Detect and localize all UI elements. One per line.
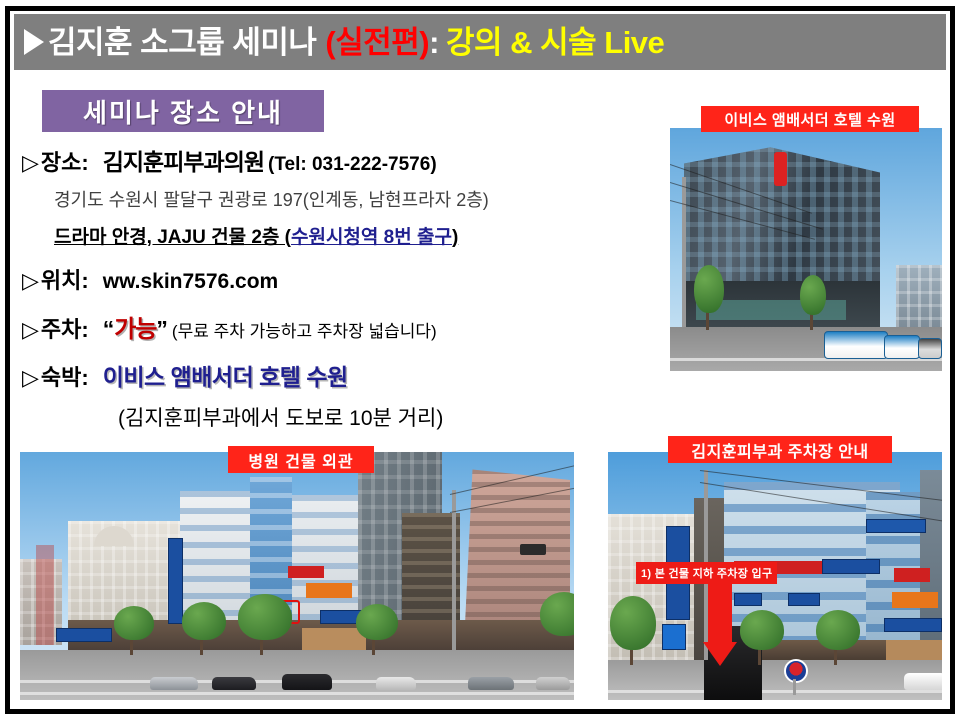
parking-arrow-stem xyxy=(708,584,732,646)
parking-arrow-head xyxy=(703,642,737,666)
title-yellow: 강의 & 시술 Live xyxy=(446,25,664,60)
info-row-lodging: ▷ 숙박: 이비스 앰배서더 호텔 수원 xyxy=(22,358,632,392)
lodging-value: 이비스 앰배서더 호텔 수원 xyxy=(103,358,348,392)
hotel-photo xyxy=(670,128,942,371)
parking-photo: 1) 본 건물 지하 주차장 입구 xyxy=(608,452,942,700)
landmark-close-paren: ) xyxy=(452,227,458,248)
info-row-place: ▷ 장소: 김지훈피부과의원 (Tel: 031-222-7576) xyxy=(22,143,632,177)
landmark-subway-exit: 수원시청역 8번 출구 xyxy=(291,227,452,248)
site-label: 위치: xyxy=(41,263,89,295)
exterior-photo-caption: 병원 건물 외관 xyxy=(228,446,374,473)
landmark-text: 드라마 안경, JAJU 건물 2층 ( xyxy=(54,227,291,248)
slide-title: 김지훈 소그룹 세미나(실전편):강의 & 시술 Live xyxy=(48,27,664,58)
parking-photo-caption: 김지훈피부과 주차장 안내 xyxy=(668,436,892,463)
lodging-label: 숙박: xyxy=(41,360,89,392)
bullet-triangle-icon: ▷ xyxy=(22,268,39,294)
slide-title-bar: 김지훈 소그룹 세미나(실전편):강의 & 시술 Live xyxy=(14,14,946,70)
parking-note: (무료 주차 가능하고 주차장 넓습니다) xyxy=(172,317,437,342)
slide: 김지훈 소그룹 세미나(실전편):강의 & 시술 Live 세미나 장소 안내 … xyxy=(0,0,960,720)
title-colon: : xyxy=(429,25,439,60)
lodging-note: (김지훈피부과에서 도보로 10분 거리) xyxy=(118,402,632,432)
bullet-triangle-icon: ▷ xyxy=(22,365,39,391)
section-banner: 세미나 장소 안내 xyxy=(42,90,324,132)
venue-info-block: ▷ 장소: 김지훈피부과의원 (Tel: 031-222-7576) 경기도 수… xyxy=(22,143,632,432)
place-name: 김지훈피부과의원 xyxy=(103,143,264,177)
title-red: (실전편) xyxy=(325,25,429,60)
parking-label: 주차: xyxy=(41,312,89,344)
title-main: 김지훈 소그룹 세미나 xyxy=(48,25,316,60)
parking-value: 가능 xyxy=(114,309,156,344)
parking-quote-open: “ xyxy=(103,316,115,343)
exterior-photo xyxy=(20,452,574,700)
place-tel: (Tel: 031-222-7576) xyxy=(268,154,437,176)
place-address: 경기도 수원시 팔달구 권광로 197(인계동, 남현프라자 2층) xyxy=(54,186,632,212)
hotel-photo-caption: 이비스 앰배서더 호텔 수원 xyxy=(701,106,919,132)
bullet-triangle-icon: ▷ xyxy=(22,150,39,176)
parking-entrance-annotation: 1) 본 건물 지하 주차장 입구 xyxy=(636,562,777,584)
parking-quote-close: ” xyxy=(156,316,168,343)
section-banner-label: 세미나 장소 안내 xyxy=(83,93,283,130)
info-row-parking: ▷ 주차: “가능” (무료 주차 가능하고 주차장 넓습니다) xyxy=(22,309,632,344)
info-row-site: ▷ 위치: ww.skin7576.com xyxy=(22,263,632,295)
play-triangle-icon xyxy=(24,29,44,55)
place-label: 장소: xyxy=(41,145,89,177)
bullet-triangle-icon: ▷ xyxy=(22,317,39,343)
place-landmark: 드라마 안경, JAJU 건물 2층 (수원시청역 8번 출구) xyxy=(54,222,632,249)
site-url[interactable]: ww.skin7576.com xyxy=(103,270,278,294)
